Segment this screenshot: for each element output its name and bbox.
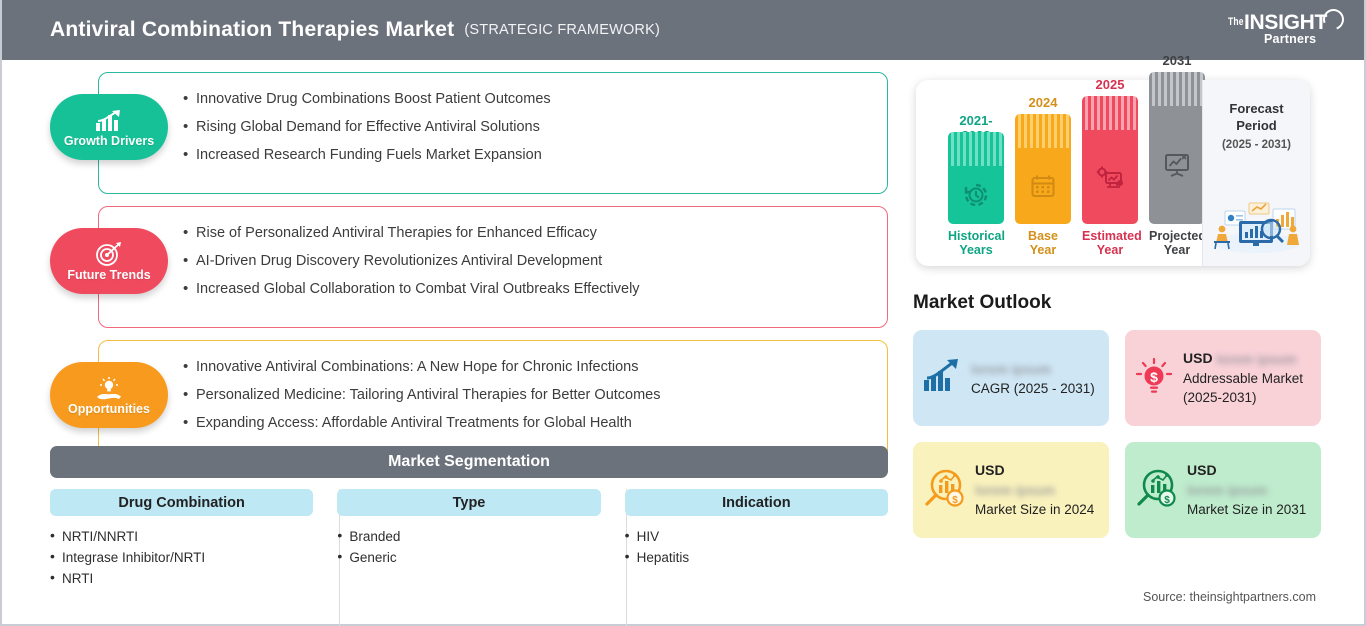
driver-row-opportunities: Innovative Antiviral Combinations: A New… bbox=[2, 340, 902, 462]
segmentation-list: NRTI/NNRTI Integrase Inhibitor/NRTI NRTI bbox=[50, 526, 313, 589]
calendar-icon bbox=[1030, 173, 1056, 199]
badge-opportunities[interactable]: Opportunities bbox=[50, 362, 168, 428]
bar-chart-growth-icon bbox=[94, 107, 124, 133]
bar-caption: Base Year bbox=[1015, 229, 1071, 257]
cagr-growth-chart-icon bbox=[922, 358, 962, 399]
forecast-bar-historical: 2021-2023 Historical Years bbox=[948, 132, 1004, 260]
page-subtitle: (STRATEGIC FRAMEWORK) bbox=[464, 22, 660, 38]
driver-box-trends: Rise of Personalized Antiviral Therapies… bbox=[98, 206, 888, 328]
outlook-card-label: Market Size in 2024 bbox=[975, 500, 1094, 519]
outlook-card-market-size-2024[interactable]: $ USD lorem ipsum Market Size in 2024 bbox=[913, 442, 1109, 538]
bar-caption: Historical Years bbox=[948, 229, 1004, 257]
outlook-card-market-size-2031[interactable]: $ USD lorem ipsum Market Size in 2031 bbox=[1125, 442, 1321, 538]
outlook-card-usd: USD bbox=[975, 461, 1094, 480]
outlook-card-text: USD lorem ipsum Addressable Market (2025… bbox=[1183, 349, 1312, 407]
logo-the-text: The bbox=[1228, 15, 1244, 28]
list-item: Increased Research Funding Fuels Market … bbox=[183, 141, 887, 169]
list-item: Integrase Inhibitor/NRTI bbox=[50, 547, 313, 568]
driver-sections: Innovative Drug Combinations Boost Patie… bbox=[2, 60, 902, 462]
bar-year-label: 2024 bbox=[1015, 95, 1071, 110]
outlook-card-text: USD lorem ipsum Market Size in 2031 bbox=[1187, 461, 1306, 519]
segmentation-list: Branded Generic bbox=[337, 526, 600, 568]
list-item: Innovative Antiviral Combinations: A New… bbox=[183, 353, 887, 381]
list-item: Hepatitis bbox=[625, 547, 888, 568]
bar-year-label: 2025 bbox=[1082, 77, 1138, 92]
list-item: Generic bbox=[337, 547, 600, 568]
segmentation-columns: Drug Combination NRTI/NNRTI Integrase In… bbox=[50, 489, 888, 589]
segmentation-title: Market Segmentation bbox=[50, 446, 888, 478]
outlook-card-label: CAGR (2025 - 2031) bbox=[971, 379, 1095, 398]
badge-label: Future Trends bbox=[67, 268, 150, 282]
redacted-value: lorem ipsum bbox=[1216, 350, 1296, 369]
page-title: Antiviral Combination Therapies Market bbox=[50, 18, 454, 42]
svg-text:$: $ bbox=[1164, 495, 1170, 506]
driver-row-growth: Innovative Drug Combinations Boost Patie… bbox=[2, 72, 902, 194]
list-item: Expanding Access: Affordable Antiviral T… bbox=[183, 409, 887, 437]
segmentation-list: HIV Hepatitis bbox=[625, 526, 888, 568]
redacted-value: lorem ipsum bbox=[1187, 481, 1267, 500]
bar-shape bbox=[1149, 72, 1205, 224]
list-item: NRTI/NNRTI bbox=[50, 526, 313, 547]
forecast-bar-projected: 2031 Projected Year bbox=[1149, 72, 1205, 260]
list-item: AI-Driven Drug Discovery Revolutionizes … bbox=[183, 247, 887, 275]
insight-partners-logo: The INSIGHT Partners bbox=[1226, 8, 1346, 52]
target-dart-icon bbox=[95, 241, 123, 267]
outlook-card-usd: USD bbox=[1187, 461, 1306, 480]
segmentation-header: Indication bbox=[625, 489, 888, 516]
bar-stripes bbox=[1082, 96, 1138, 130]
forecast-period-chart: 2021-2023 Historical Years 2024 bbox=[916, 80, 1310, 266]
bar-shape bbox=[948, 132, 1004, 224]
hand-lightbulb-icon bbox=[94, 375, 124, 401]
redacted-value: lorem ipsum bbox=[975, 481, 1055, 500]
list-item: Innovative Drug Combinations Boost Patie… bbox=[183, 85, 887, 113]
list-item: NRTI bbox=[50, 568, 313, 589]
dollar-bulb-icon: $ bbox=[1134, 356, 1174, 401]
logo-partners-text: Partners bbox=[1264, 32, 1316, 46]
svg-text:$: $ bbox=[952, 495, 958, 506]
bar-shape bbox=[1015, 114, 1071, 224]
svg-text:$: $ bbox=[1150, 369, 1158, 385]
magnifier-chart-dollar-icon: $ bbox=[922, 467, 966, 514]
segmentation-column-indication: Indication HIV Hepatitis bbox=[625, 489, 888, 589]
magnifier-chart-dollar-icon: $ bbox=[1134, 467, 1178, 514]
forecast-period-panel: Forecast Period (2025 - 2031) bbox=[1202, 80, 1310, 266]
bar-shape bbox=[1082, 96, 1138, 224]
list-item: Increased Global Collaboration to Combat… bbox=[183, 275, 887, 303]
forecast-range: (2025 - 2031) bbox=[1203, 139, 1310, 151]
analytics-gear-icon bbox=[1096, 164, 1124, 190]
badge-label: Opportunities bbox=[68, 402, 150, 416]
outlook-card-cagr[interactable]: lorem ipsum CAGR (2025 - 2031) bbox=[913, 330, 1109, 426]
bar-stripes bbox=[1015, 114, 1071, 148]
driver-box-growth: Innovative Drug Combinations Boost Patie… bbox=[98, 72, 888, 194]
driver-bullets-trends: Rise of Personalized Antiviral Therapies… bbox=[183, 219, 887, 303]
forecast-title-line1: Forecast bbox=[1203, 100, 1310, 117]
outlook-card-text: USD lorem ipsum Market Size in 2024 bbox=[975, 461, 1094, 519]
driver-bullets-opportunities: Innovative Antiviral Combinations: A New… bbox=[183, 353, 887, 437]
bar-caption: Estimated Year bbox=[1082, 229, 1138, 257]
bar-solid bbox=[1082, 130, 1138, 224]
bar-stripes bbox=[1149, 72, 1205, 106]
forecast-title-line2: Period bbox=[1203, 117, 1310, 134]
outlook-card-label: Addressable Market (2025-2031) bbox=[1183, 369, 1312, 407]
page-header: Antiviral Combination Therapies Market (… bbox=[2, 0, 1364, 60]
bar-solid bbox=[948, 166, 1004, 224]
market-outlook-title: Market Outlook bbox=[913, 292, 1051, 314]
infographic-page: Antiviral Combination Therapies Market (… bbox=[0, 0, 1366, 626]
badge-future-trends[interactable]: Future Trends bbox=[50, 228, 168, 294]
badge-label: Growth Drivers bbox=[64, 134, 154, 148]
segmentation-header: Type bbox=[337, 489, 600, 516]
market-outlook-cards: lorem ipsum CAGR (2025 - 2031) $ USD bbox=[913, 330, 1321, 538]
bar-year-label: 2031 bbox=[1149, 53, 1205, 68]
segmentation-column-type: Type Branded Generic bbox=[337, 489, 600, 589]
presentation-screen-icon bbox=[1163, 152, 1191, 178]
bar-solid bbox=[1149, 106, 1205, 224]
outlook-card-text: lorem ipsum CAGR (2025 - 2031) bbox=[971, 359, 1095, 398]
list-item: Personalized Medicine: Tailoring Antivir… bbox=[183, 381, 887, 409]
bar-stripes bbox=[948, 132, 1004, 166]
outlook-card-label: Market Size in 2031 bbox=[1187, 500, 1306, 519]
forecast-bar-estimated: 2025 Estimated Year bbox=[1082, 96, 1138, 260]
outlook-card-addressable-market[interactable]: $ USD lorem ipsum Addressable Market (20… bbox=[1125, 330, 1321, 426]
bar-solid bbox=[1015, 148, 1071, 224]
list-item: Rise of Personalized Antiviral Therapies… bbox=[183, 219, 887, 247]
list-item: HIV bbox=[625, 526, 888, 547]
list-item: Branded bbox=[337, 526, 600, 547]
forecast-bar-base: 2024 bbox=[1015, 114, 1071, 260]
driver-bullets-growth: Innovative Drug Combinations Boost Patie… bbox=[183, 85, 887, 169]
source-text: Source: theinsightpartners.com bbox=[1143, 590, 1316, 604]
outlook-card-usd: USD bbox=[1183, 350, 1213, 366]
forecast-bars: 2021-2023 Historical Years 2024 bbox=[930, 80, 1186, 266]
data-analytics-illustration bbox=[1209, 195, 1305, 258]
bar-caption: Projected Year bbox=[1149, 229, 1205, 257]
segmentation-column-drug-combination: Drug Combination NRTI/NNRTI Integrase In… bbox=[50, 489, 313, 589]
badge-growth-drivers[interactable]: Growth Drivers bbox=[50, 94, 168, 160]
list-item: Rising Global Demand for Effective Antiv… bbox=[183, 113, 887, 141]
segmentation-header: Drug Combination bbox=[50, 489, 313, 516]
redacted-value: lorem ipsum bbox=[971, 360, 1051, 379]
driver-box-opportunities: Innovative Antiviral Combinations: A New… bbox=[98, 340, 888, 462]
clock-history-icon bbox=[963, 182, 989, 208]
driver-row-trends: Rise of Personalized Antiviral Therapies… bbox=[2, 206, 902, 328]
